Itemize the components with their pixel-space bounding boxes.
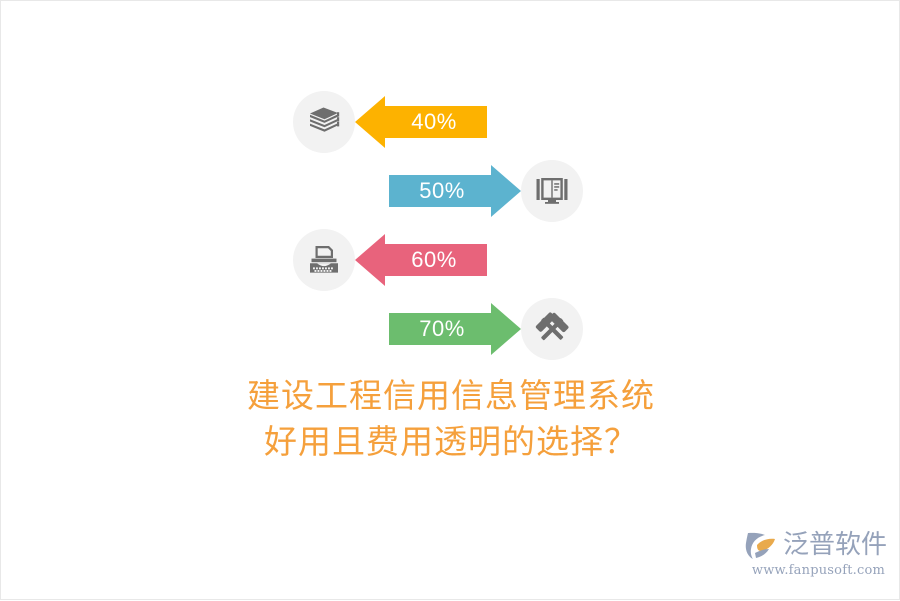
percentage-arrow-chart: 40% 50%: [1, 1, 900, 381]
fanpu-logo-icon: [745, 529, 779, 561]
chart-row: 40%: [293, 91, 553, 153]
books-stack-icon: [293, 91, 355, 153]
percentage-arrow: 50%: [389, 165, 521, 217]
watermark-brand-name: 泛普软件: [783, 530, 887, 560]
watermark-url: www.fanpusoft.com: [739, 563, 887, 579]
percentage-arrow: 60%: [355, 234, 487, 286]
watermark-brand-row: 泛普软件: [739, 527, 887, 563]
percentage-arrow: 70%: [389, 303, 521, 355]
watermark-logo: 泛普软件 www.fanpusoft.com: [739, 527, 887, 585]
typewriter-icon: [293, 229, 355, 291]
chart-row: 60%: [293, 229, 553, 291]
infographic-canvas: 40% 50%: [1, 1, 900, 601]
percentage-arrow: 40%: [355, 96, 487, 148]
crossed-hammers-icon: [521, 298, 583, 360]
page-title: 建设工程信用信息管理系统 好用且费用透明的选择？: [1, 373, 900, 465]
page-title-line-1: 建设工程信用信息管理系统: [1, 373, 900, 419]
open-book-icon: [521, 160, 583, 222]
chart-row: 50%: [323, 160, 583, 222]
chart-row: 70%: [323, 298, 583, 360]
page-title-line-2: 好用且费用透明的选择？: [1, 419, 900, 465]
